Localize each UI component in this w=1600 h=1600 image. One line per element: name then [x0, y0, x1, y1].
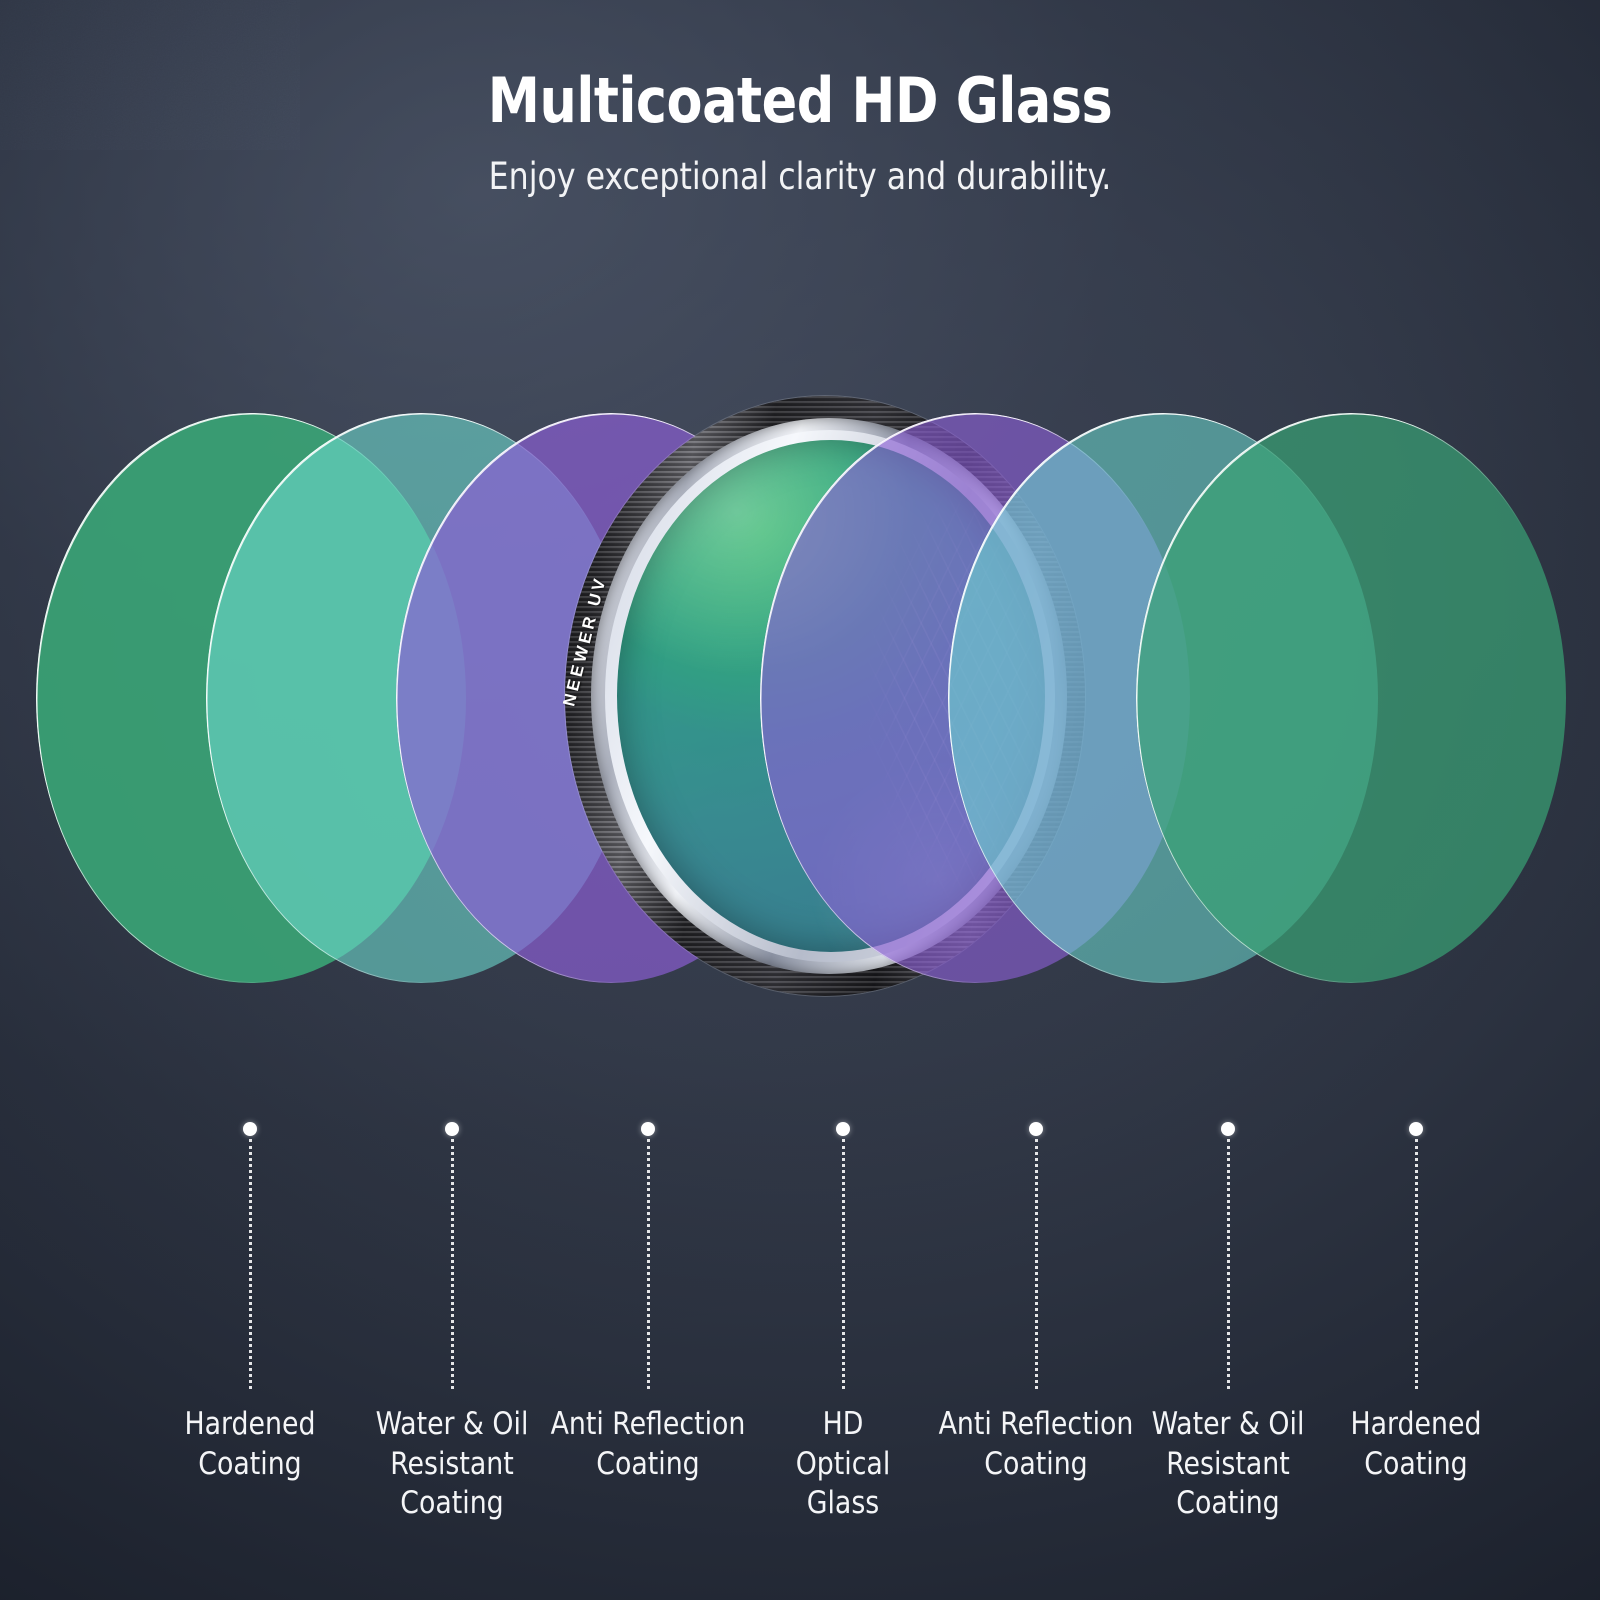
callout-leader-line: [249, 1139, 252, 1389]
callout-dot-icon: [1221, 1122, 1235, 1136]
callout-label-line: Anti Reflection: [538, 1405, 759, 1445]
callout-leader-line: [1227, 1139, 1230, 1389]
callout-label-line: Coating: [140, 1445, 361, 1485]
layer-edge-outline: [1136, 413, 1566, 983]
callout-leader-line: [647, 1139, 650, 1389]
callout-label: HardenedCoating: [140, 1405, 361, 1484]
callout-dot-icon: [1029, 1122, 1043, 1136]
callout-label: Water & OilResistantCoating: [342, 1405, 563, 1524]
callout-label-line: Coating: [342, 1484, 563, 1524]
callout-label-line: Resistant: [342, 1445, 563, 1485]
callout-dot-icon: [243, 1122, 257, 1136]
callout-label-line: Glass: [733, 1484, 954, 1524]
callout-hardened-coating-left: HardenedCoating: [135, 1122, 365, 1484]
callout-dot-icon: [445, 1122, 459, 1136]
callout-leader-line: [842, 1139, 845, 1389]
callout-label-line: Coating: [1118, 1484, 1339, 1524]
infographic-canvas: Multicoated HD Glass Enjoy exceptional c…: [0, 0, 1600, 1600]
callout-label-line: Hardened: [140, 1405, 361, 1445]
callout-leader-line: [451, 1139, 454, 1389]
callout-dot-icon: [641, 1122, 655, 1136]
callout-label: HardenedCoating: [1306, 1405, 1527, 1484]
callout-dot-icon: [1409, 1122, 1423, 1136]
callout-label: Anti ReflectionCoating: [538, 1405, 759, 1484]
callout-label-line: Water & Oil: [342, 1405, 563, 1445]
callout-label-line: Coating: [538, 1445, 759, 1485]
callout-hardened-coating-right: HardenedCoating: [1301, 1122, 1531, 1484]
callout-leader-line: [1415, 1139, 1418, 1389]
callout-label-line: Coating: [1306, 1445, 1527, 1485]
coating-layer-hardened-right: [1136, 413, 1566, 983]
callout-dot-icon: [836, 1122, 850, 1136]
callout-label-line: Hardened: [1306, 1405, 1527, 1445]
callout-leader-line: [1035, 1139, 1038, 1389]
